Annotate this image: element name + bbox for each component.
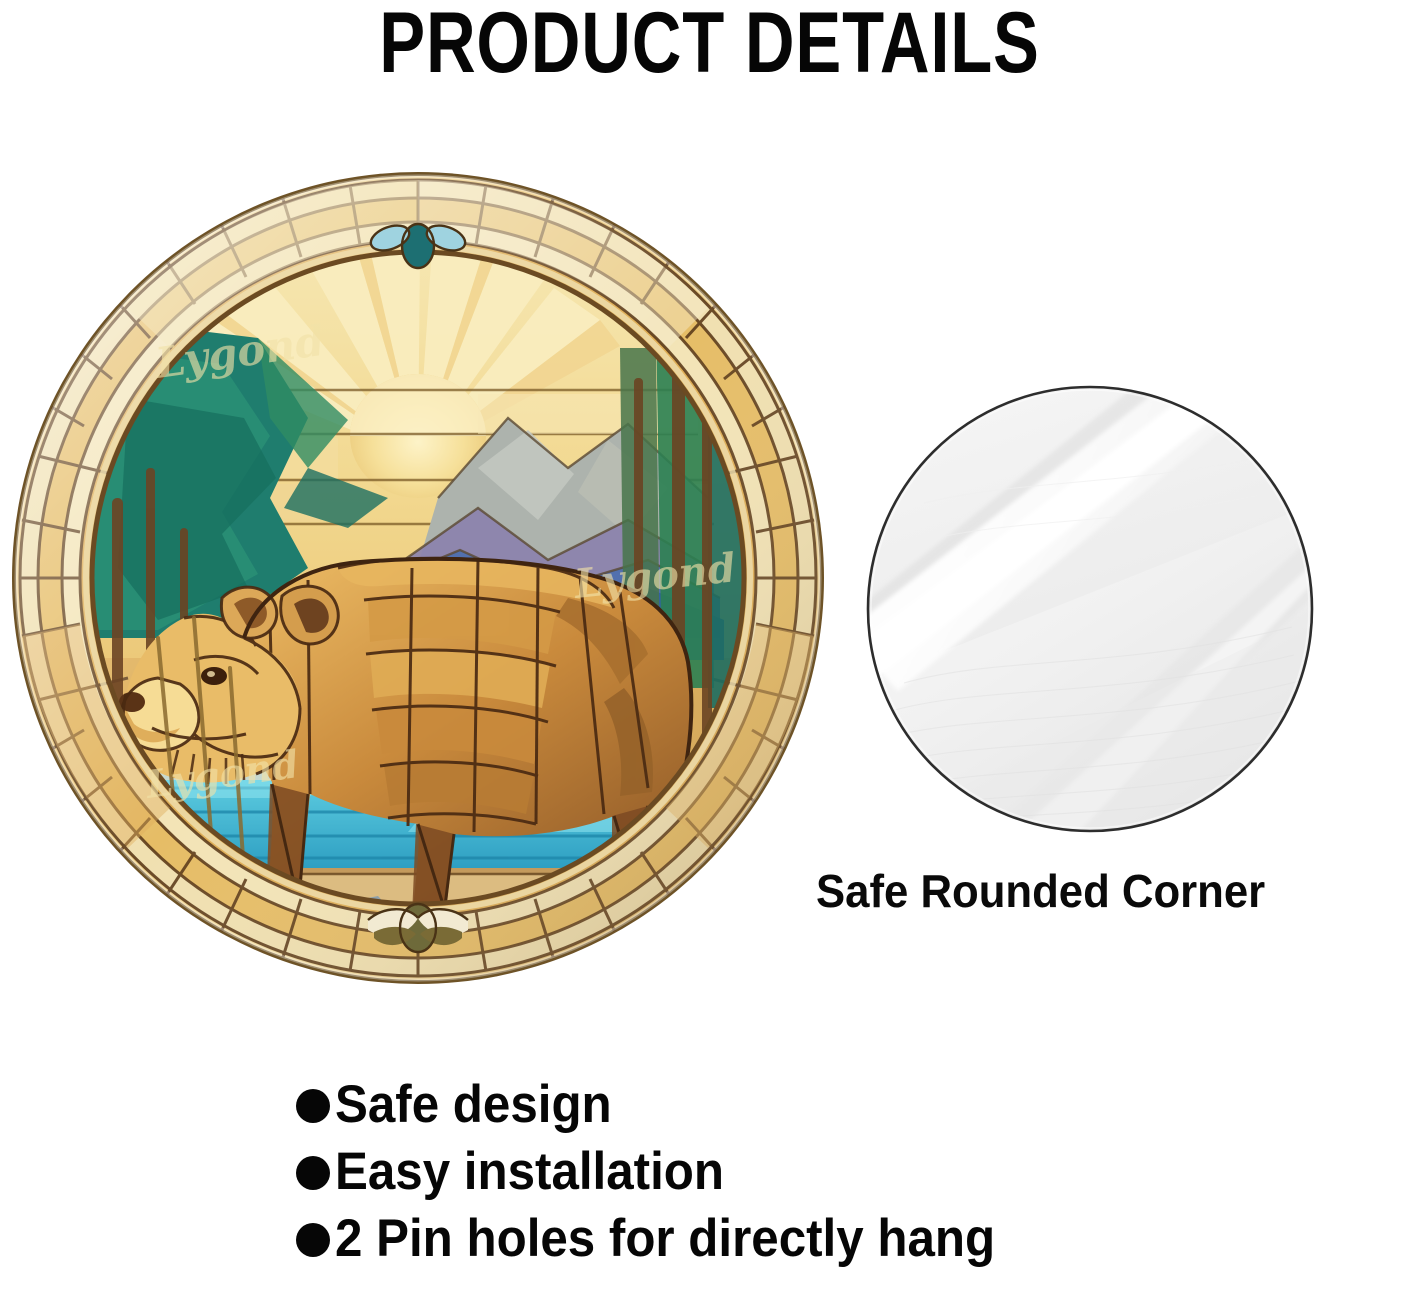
feature-label: Easy installation: [335, 1141, 724, 1203]
list-item: Easy installation: [296, 1141, 1346, 1203]
rounded-corner-caption: Safe Rounded Corner: [816, 864, 1389, 918]
feature-list: Safe design Easy installation 2 Pin hole…: [296, 1074, 1346, 1275]
page-title: PRODUCT DETAILS: [142, 0, 1277, 93]
rounded-corner-photo[interactable]: [864, 383, 1316, 835]
list-item: 2 Pin holes for directly hang: [296, 1208, 1346, 1270]
feature-label: Safe design: [335, 1074, 612, 1136]
bullet-circle-icon: [296, 1089, 330, 1123]
bullet-circle-icon: [296, 1223, 330, 1257]
rounded-corner-svg: [864, 383, 1316, 835]
bullet-circle-icon: [296, 1156, 330, 1190]
product-image-stained-glass-bear[interactable]: Lygond Lygond Lygond: [8, 168, 828, 988]
list-item: Safe design: [296, 1074, 1346, 1136]
feature-label: 2 Pin holes for directly hang: [335, 1208, 995, 1270]
stained-glass-svg: Lygond Lygond Lygond: [8, 168, 828, 988]
